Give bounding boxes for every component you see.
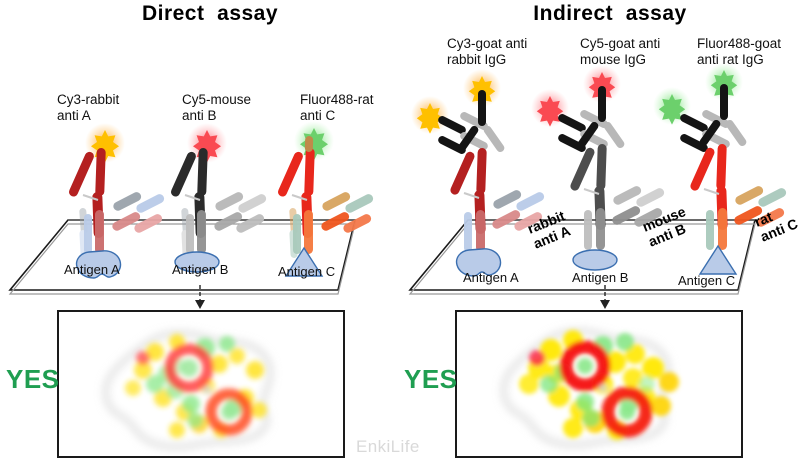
antigen-label-c-direct: Antigen C [278, 264, 335, 279]
verdict-direct: YES [6, 364, 60, 395]
antigen-label-b-indirect: Antigen B [572, 270, 628, 285]
antigen-label-b-direct: Antigen B [172, 262, 228, 277]
cell-image-direct [59, 312, 343, 456]
watermark: EnkiLife [356, 437, 420, 457]
antigen-label-c-indirect: Antigen C [678, 273, 735, 288]
antigen-label-a-indirect: Antigen A [463, 270, 519, 285]
verdict-indirect: YES [404, 364, 458, 395]
arrow-indirect-to-image [590, 285, 620, 313]
direct-assay-schematic [0, 110, 400, 310]
cell-image-indirect [457, 312, 741, 456]
arrow-direct-to-image [185, 285, 215, 313]
panel-title-indirect: Indirect assay [460, 2, 760, 26]
panel-title-direct: Direct assay [60, 2, 360, 26]
antigen-b-shape-indirect [573, 250, 617, 270]
antigen-label-a-direct: Antigen A [64, 262, 120, 277]
partner-antibody-c [320, 191, 375, 235]
figure-canvas: Direct assay Indirect assay Cy3-rabbit a… [0, 0, 800, 465]
result-image-indirect [455, 310, 743, 458]
result-image-direct [57, 310, 345, 458]
